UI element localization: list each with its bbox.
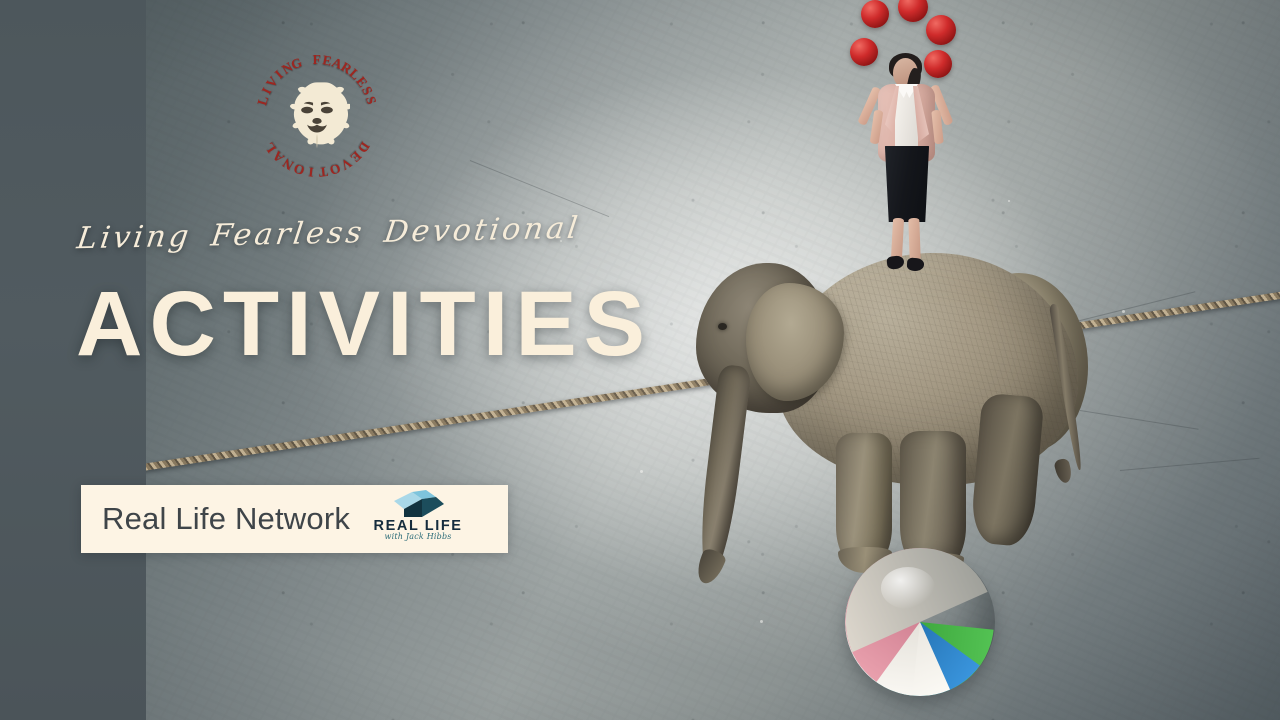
logo-arc-char: I [307, 163, 314, 180]
juggling-ball [898, 0, 928, 22]
wall-speck [760, 620, 763, 623]
logo-arc-char: T [318, 163, 329, 180]
title-card: LIVING FEARLESS DEVOTIONAL Living Fearle… [0, 0, 1280, 720]
lion-head-icon [284, 81, 350, 151]
network-label: Real Life Network [102, 501, 350, 537]
real-life-logo: REAL LIFE with Jack Hibbs [364, 488, 472, 550]
elephant-hind-leg [970, 393, 1045, 548]
elephant-trunk [694, 364, 752, 578]
juggling-ball [926, 15, 956, 45]
living-fearless-devotional-logo: LIVING FEARLESS DEVOTIONAL [253, 52, 381, 180]
right-leg [908, 218, 920, 260]
wall-speck [1122, 310, 1125, 313]
elephant-eye [718, 323, 727, 330]
beach-ball-sphere [845, 548, 995, 696]
left-shoe [886, 255, 904, 270]
beach-ball [845, 548, 995, 696]
woman-juggling [845, 6, 975, 274]
wall-speck [640, 470, 643, 473]
open-book-icon [392, 490, 446, 518]
wall-speck [1008, 200, 1010, 202]
page-title: ACTIVITIES [76, 278, 652, 370]
left-leg [891, 218, 904, 261]
ball-highlight [881, 567, 935, 608]
network-bar: Real Life Network REAL LIFE with Jack Hi… [81, 485, 508, 553]
juggling-ball [861, 0, 889, 28]
real-life-signature: with Jack Hibbs [364, 532, 472, 541]
elephant-tail-tuft [1053, 458, 1073, 485]
juggling-ball [924, 50, 952, 78]
right-shoe [907, 257, 925, 271]
juggling-ball [850, 38, 878, 66]
elephant [660, 245, 1110, 575]
skirt [883, 146, 931, 222]
